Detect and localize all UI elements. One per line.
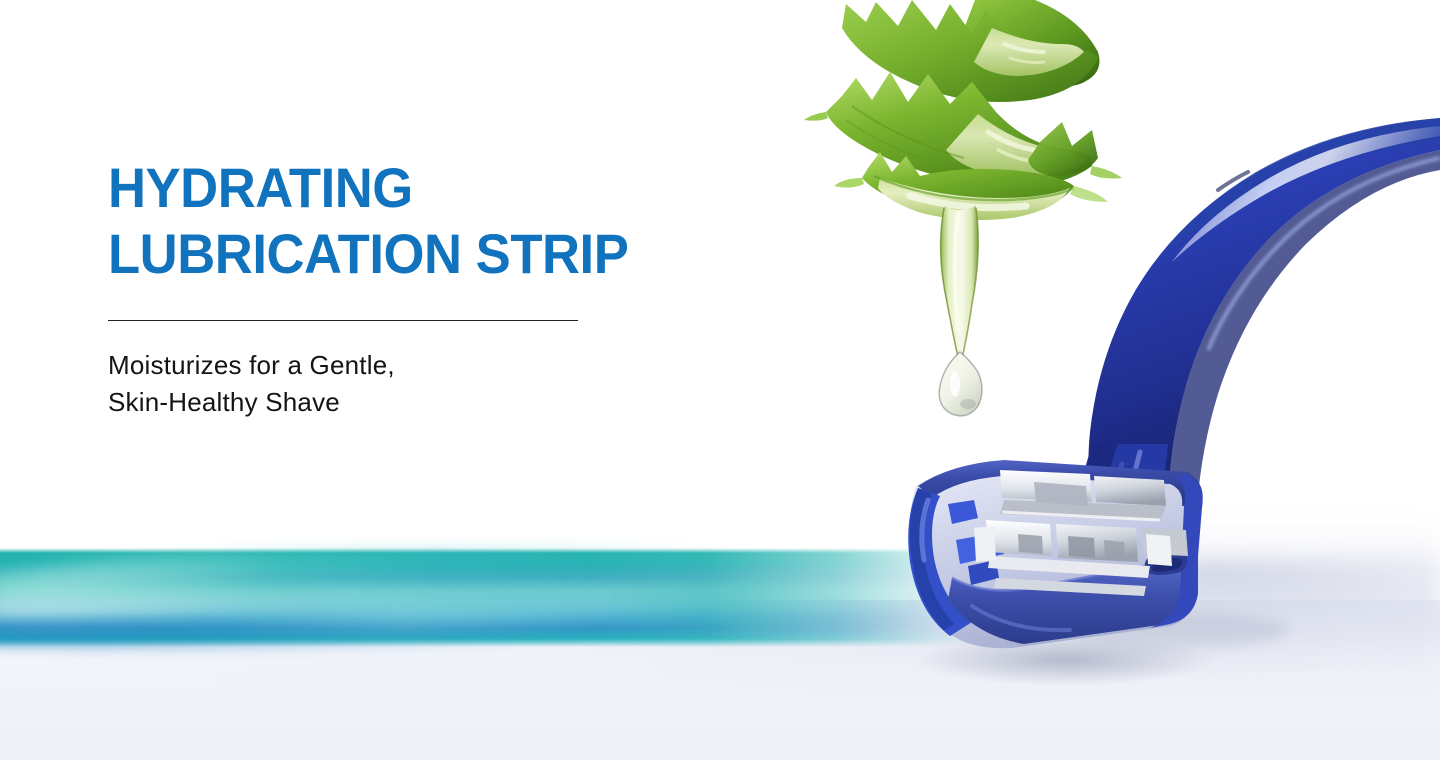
gel-droplet-highlight: [950, 371, 960, 397]
razor-handle-groove: [1218, 172, 1248, 190]
wave-taper-fade: [599, 569, 1020, 638]
aloe-leaf-top-center: [842, 0, 1098, 102]
aloe-leaf-bottom-cut-face: [878, 178, 1070, 220]
page-title: HYDRATING LUBRICATION STRIP: [108, 155, 766, 287]
aloe-leaf-middle-rib-1: [852, 106, 964, 158]
head-left-tab-1: [948, 500, 978, 524]
aloe-leaf-back-right: [962, 0, 1100, 89]
gel-strand-edge-right: [960, 208, 978, 366]
gel-strand-edge-left: [941, 208, 960, 366]
aloe-gel-droplet: [939, 206, 982, 416]
head-back-rail: [918, 460, 1203, 506]
razor-handle-specular-top: [1172, 126, 1440, 262]
teal-lubrication-wave: [0, 535, 1010, 660]
aloe-leaf-middle-gel-streak-1: [988, 132, 1034, 150]
aloe-leaf-bottom: [862, 152, 1074, 217]
razor-handle-grip-highlight: [1124, 452, 1140, 516]
copy-block: HYDRATING LUBRICATION STRIP Moisturizes …: [108, 155, 808, 421]
aloe-frond-left: [804, 112, 828, 121]
razor-handle-inner-edge: [1168, 150, 1440, 520]
aloe-leaf-bottom-rim: [874, 176, 1074, 200]
aloe-leaf-right-wing: [1028, 122, 1098, 176]
hydrating-lubrication-strip-banner: HYDRATING LUBRICATION STRIP Moisturizes …: [0, 0, 1440, 760]
razor-handle-specular-edge: [1208, 158, 1440, 350]
aloe-leaf-middle-gel-streak-2: [998, 150, 1038, 162]
gel-strand: [940, 206, 978, 366]
blade-riser-center: [1034, 482, 1088, 506]
aloe-frond-left-2: [834, 178, 864, 188]
gel-strand-highlight: [955, 214, 958, 330]
gel-droplet: [939, 352, 982, 416]
aloe-frond-right: [1090, 166, 1122, 179]
aloe-leaf-top-center-gel: [974, 28, 1084, 76]
blade-highlight-sheen: [1002, 512, 1160, 520]
subtitle: Moisturizes for a Gentle, Skin-Healthy S…: [108, 347, 808, 421]
aloe-leaf-middle-large: [826, 72, 1092, 187]
gel-droplet-shadow: [960, 399, 976, 409]
aloe-leaf-top-gel-streak-2: [1010, 58, 1044, 63]
blade-fin-rear-2: [1094, 476, 1166, 506]
title-divider: [108, 320, 578, 321]
aloe-leaf-top-gel-streak-1: [1004, 44, 1044, 52]
aloe-leaf-middle-rib-2: [846, 120, 952, 168]
blade-guard-top: [1000, 500, 1166, 520]
razor-handle-body: [1088, 118, 1440, 518]
aloe-frond-right-2: [1070, 186, 1108, 202]
aloe-leaf-middle-gel: [946, 114, 1086, 177]
razor-handle-upper-facet: [1158, 118, 1440, 258]
aloe-leaf-bottom-gel-sheen: [910, 196, 1026, 208]
aloe-vera-leaves: [804, 0, 1122, 220]
razor-handle: [1067, 118, 1440, 572]
blade-fin-rear-1: [1000, 470, 1092, 502]
gel-droplet-outline: [939, 352, 982, 416]
